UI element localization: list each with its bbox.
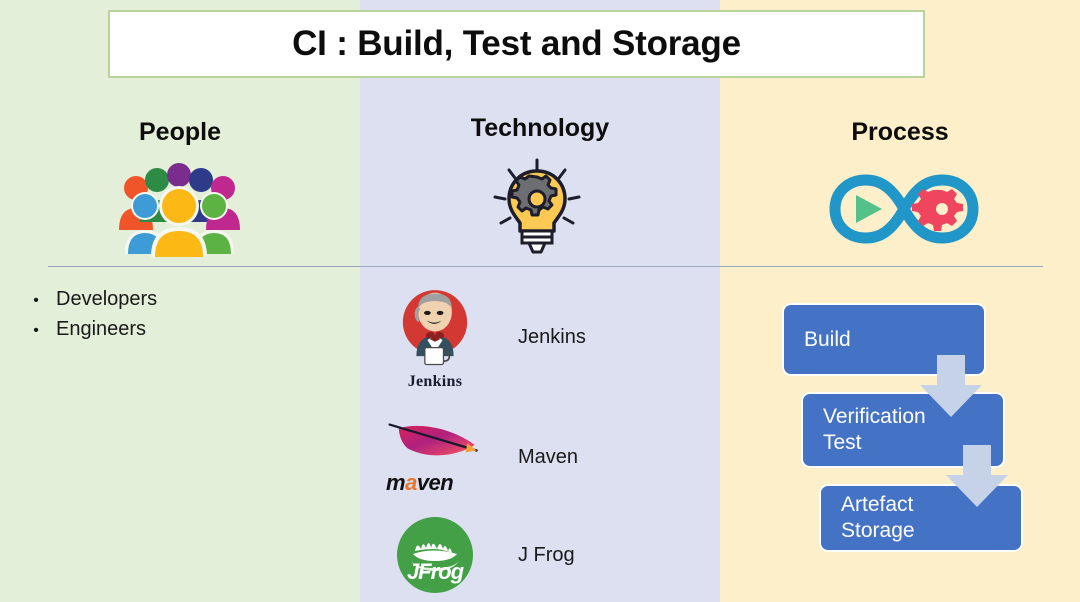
maven-caption-prefix: m (386, 470, 405, 495)
process-column-heading: Process (720, 118, 1080, 147)
jenkins-logo-wrapper: Jenkins (376, 285, 494, 389)
page-title: CI : Build, Test and Storage (292, 24, 741, 64)
maven-logo-caption: maven (386, 470, 453, 496)
list-item: • Developers (16, 288, 346, 318)
tool-label-maven: Maven (518, 446, 578, 469)
maven-caption-accent: a (405, 470, 417, 495)
flow-step-line: Storage (841, 518, 1001, 544)
tool-row-jfrog: JFrog J Frog (376, 500, 696, 602)
tool-row-jenkins: Jenkins Jenkins (376, 282, 696, 392)
people-group-icon (113, 162, 246, 257)
jfrog-logo-wrapper: JFrog (376, 517, 494, 593)
flow-step-line: Build (804, 327, 964, 353)
people-bullet-list: • Developers • Engineers (16, 288, 346, 348)
slide-title-box: CI : Build, Test and Storage (108, 10, 925, 78)
list-item: • Engineers (16, 318, 346, 348)
bullet-label: Engineers (56, 318, 146, 341)
technology-column-heading: Technology (360, 114, 720, 143)
jfrog-logo: JFrog (397, 517, 473, 593)
jenkins-logo: Jenkins (383, 285, 487, 389)
tool-label-jenkins: Jenkins (518, 326, 586, 349)
infinity-devops-icon (826, 170, 983, 248)
bullet-marker-icon: • (16, 323, 56, 339)
tool-row-maven: maven Maven (376, 402, 696, 512)
flow-arrow-down-icon (944, 445, 1010, 509)
tool-label-jfrog: J Frog (518, 544, 575, 567)
section-divider (48, 266, 1043, 267)
bullet-marker-icon: • (16, 293, 56, 309)
lightbulb-gear-icon (487, 157, 587, 257)
maven-logo: maven (380, 419, 490, 495)
maven-logo-wrapper: maven (376, 419, 494, 495)
jfrog-logo-caption: JFrog (397, 559, 473, 585)
bullet-label: Developers (56, 288, 157, 311)
people-column-heading: People (0, 118, 360, 147)
slide-canvas: CI : Build, Test and Storage People Tech… (0, 0, 1080, 602)
flow-arrow-down-icon (918, 355, 984, 419)
maven-caption-suffix: ven (417, 470, 453, 495)
jenkins-logo-caption: Jenkins (383, 373, 487, 391)
